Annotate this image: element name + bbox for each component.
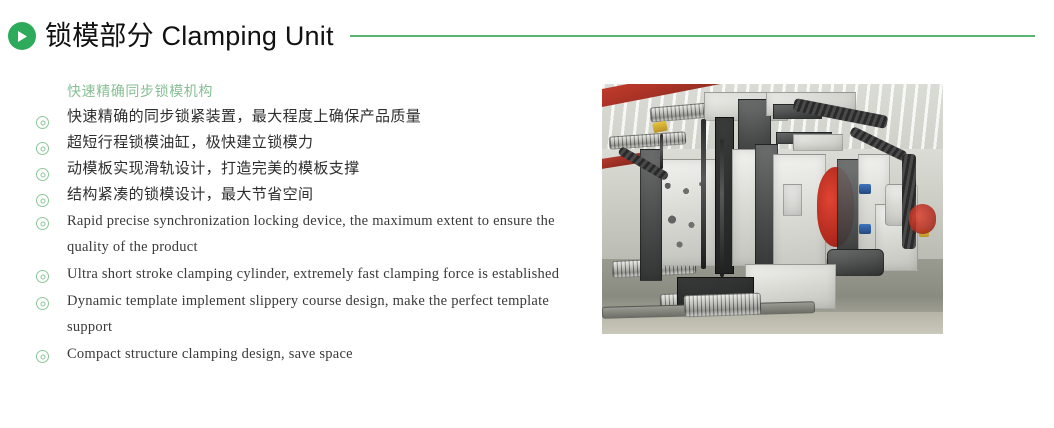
photo-rod — [701, 119, 706, 269]
bullet-circle-icon — [36, 270, 49, 283]
subheading: 快速精确同步锁模机构 — [67, 80, 574, 102]
photo-rod — [660, 134, 663, 169]
list-item: 超短行程锁模油缸，极快建立锁模力 — [34, 130, 574, 155]
feature-list-column: 快速精确同步锁模机构 快速精确的同步锁紧装置，最大程度上确保产品质量 超短行程锁… — [34, 80, 574, 368]
play-circle-icon — [8, 22, 36, 50]
feature-bullet-list: 快速精确的同步锁紧装置，最大程度上确保产品质量 超短行程锁模油缸，极快建立锁模力… — [34, 104, 574, 367]
list-item: 动模板实现滑轨设计，打造完美的模板支撑 — [34, 156, 574, 181]
photo-content — [602, 84, 943, 334]
bullet-circle-icon — [36, 116, 49, 129]
list-item: Compact structure clamping design, save … — [34, 341, 574, 367]
list-item: Dynamic template implement slippery cour… — [34, 288, 574, 340]
list-item-label: 超短行程锁模油缸，极快建立锁模力 — [67, 134, 313, 151]
bullet-circle-icon — [36, 350, 49, 363]
photo-red-accent — [909, 204, 936, 234]
list-item-label: Rapid precise synchronization locking de… — [67, 213, 555, 255]
clamping-unit-photo — [602, 84, 943, 334]
list-item-label: Ultra short stroke clamping cylinder, ex… — [67, 266, 559, 282]
list-item: Ultra short stroke clamping cylinder, ex… — [34, 261, 574, 287]
section-header: 锁模部分 Clamping Unit — [0, 14, 1054, 58]
bullet-circle-icon — [36, 142, 49, 155]
list-item-label: 结构紧凑的锁模设计，最大节省空间 — [67, 186, 313, 203]
photo-hose — [902, 154, 916, 249]
list-item-label: Compact structure clamping design, save … — [67, 346, 353, 362]
photo-blue-fitting — [859, 184, 871, 194]
list-item: 快速精确的同步锁紧装置，最大程度上确保产品质量 — [34, 104, 574, 129]
photo-tie-bar — [683, 293, 761, 318]
header-divider-line — [350, 35, 1035, 37]
photo-yellow-fitting — [652, 120, 667, 133]
photo-machine-block — [793, 134, 843, 151]
list-item-label: Dynamic template implement slippery cour… — [67, 293, 549, 335]
list-item: 结构紧凑的锁模设计，最大节省空间 — [34, 182, 574, 207]
bullet-circle-icon — [36, 194, 49, 207]
bullet-circle-icon — [36, 297, 49, 310]
photo-rod — [720, 139, 724, 277]
photo-machine-plate — [783, 184, 802, 216]
bullet-circle-icon — [36, 217, 49, 230]
list-item: Rapid precise synchronization locking de… — [34, 208, 574, 260]
list-item-label: 动模板实现滑轨设计，打造完美的模板支撑 — [67, 160, 360, 177]
list-item-label: 快速精确的同步锁紧装置，最大程度上确保产品质量 — [67, 108, 421, 125]
bullet-circle-icon — [36, 168, 49, 181]
photo-blue-fitting — [859, 224, 871, 234]
slide-page: 锁模部分 Clamping Unit 快速精确同步锁模机构 快速精确的同步锁紧装… — [0, 0, 1054, 428]
page-title: 锁模部分 Clamping Unit — [45, 20, 334, 52]
